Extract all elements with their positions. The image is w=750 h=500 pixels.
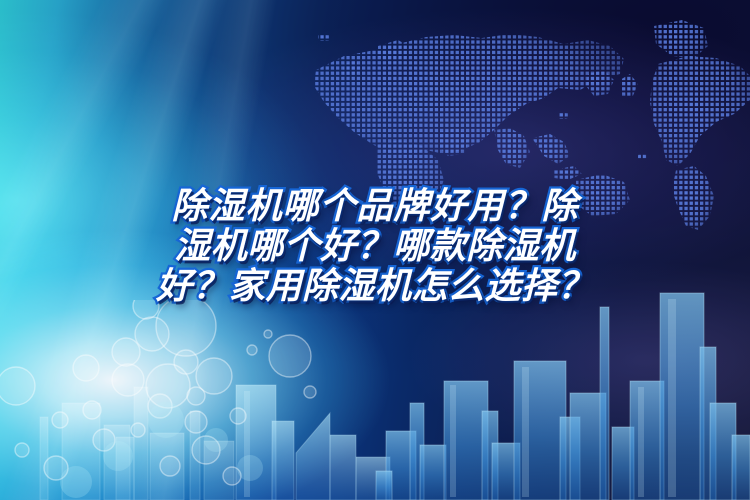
headline-line-2: 湿机哪个好？哪款除湿机 <box>0 226 750 266</box>
bubbles-graphic <box>0 300 440 500</box>
headline-line-1: 除湿机哪个品牌好用？除 <box>0 186 750 226</box>
promo-banner: 除湿机哪个品牌好用？除 湿机哪个好？哪款除湿机 好？家用除湿机怎么选择？ <box>0 0 750 500</box>
headline-block: 除湿机哪个品牌好用？除 湿机哪个好？哪款除湿机 好？家用除湿机怎么选择？ <box>0 186 750 306</box>
headline-line-3: 好？家用除湿机怎么选择？ <box>0 266 750 306</box>
